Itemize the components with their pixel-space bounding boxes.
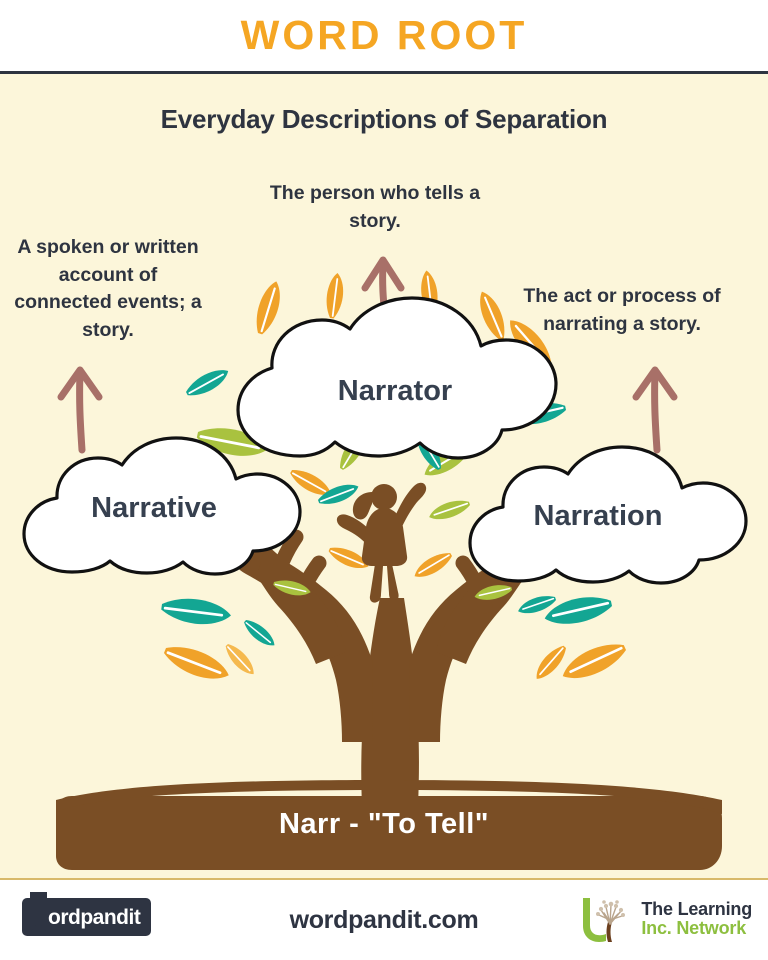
learning-network-wordmark: The Learning Inc. Network: [641, 900, 752, 939]
cloud-label-narrative: Narrative: [25, 492, 283, 525]
cloud-label-narration: Narration: [463, 500, 733, 533]
tree-illustration: [0, 0, 768, 886]
cloud-label-narrator: Narrator: [255, 375, 535, 408]
learning-network-logo: The Learning Inc. Network: [577, 894, 752, 944]
arrow-up-right: [636, 370, 674, 450]
callout-narrative-definition: A spoken or written account of connected…: [8, 234, 208, 345]
arrow-up-left: [61, 370, 99, 450]
callout-narration-definition: The act or process of narrating a story.: [497, 283, 747, 338]
child-silhouette: [337, 483, 426, 603]
learning-network-line2: Inc. Network: [641, 919, 752, 938]
callout-narrator-definition: The person who tells a story.: [257, 180, 493, 235]
learning-network-line1: The Learning: [641, 900, 752, 919]
root-word-label: Narr - "To Tell": [0, 808, 768, 841]
tree-u-icon: [577, 894, 635, 944]
poster-footer: ordpandit wordpandit.com: [0, 878, 768, 960]
infographic-poster: WORD ROOT Everyday Descriptions of Separ…: [0, 0, 768, 960]
